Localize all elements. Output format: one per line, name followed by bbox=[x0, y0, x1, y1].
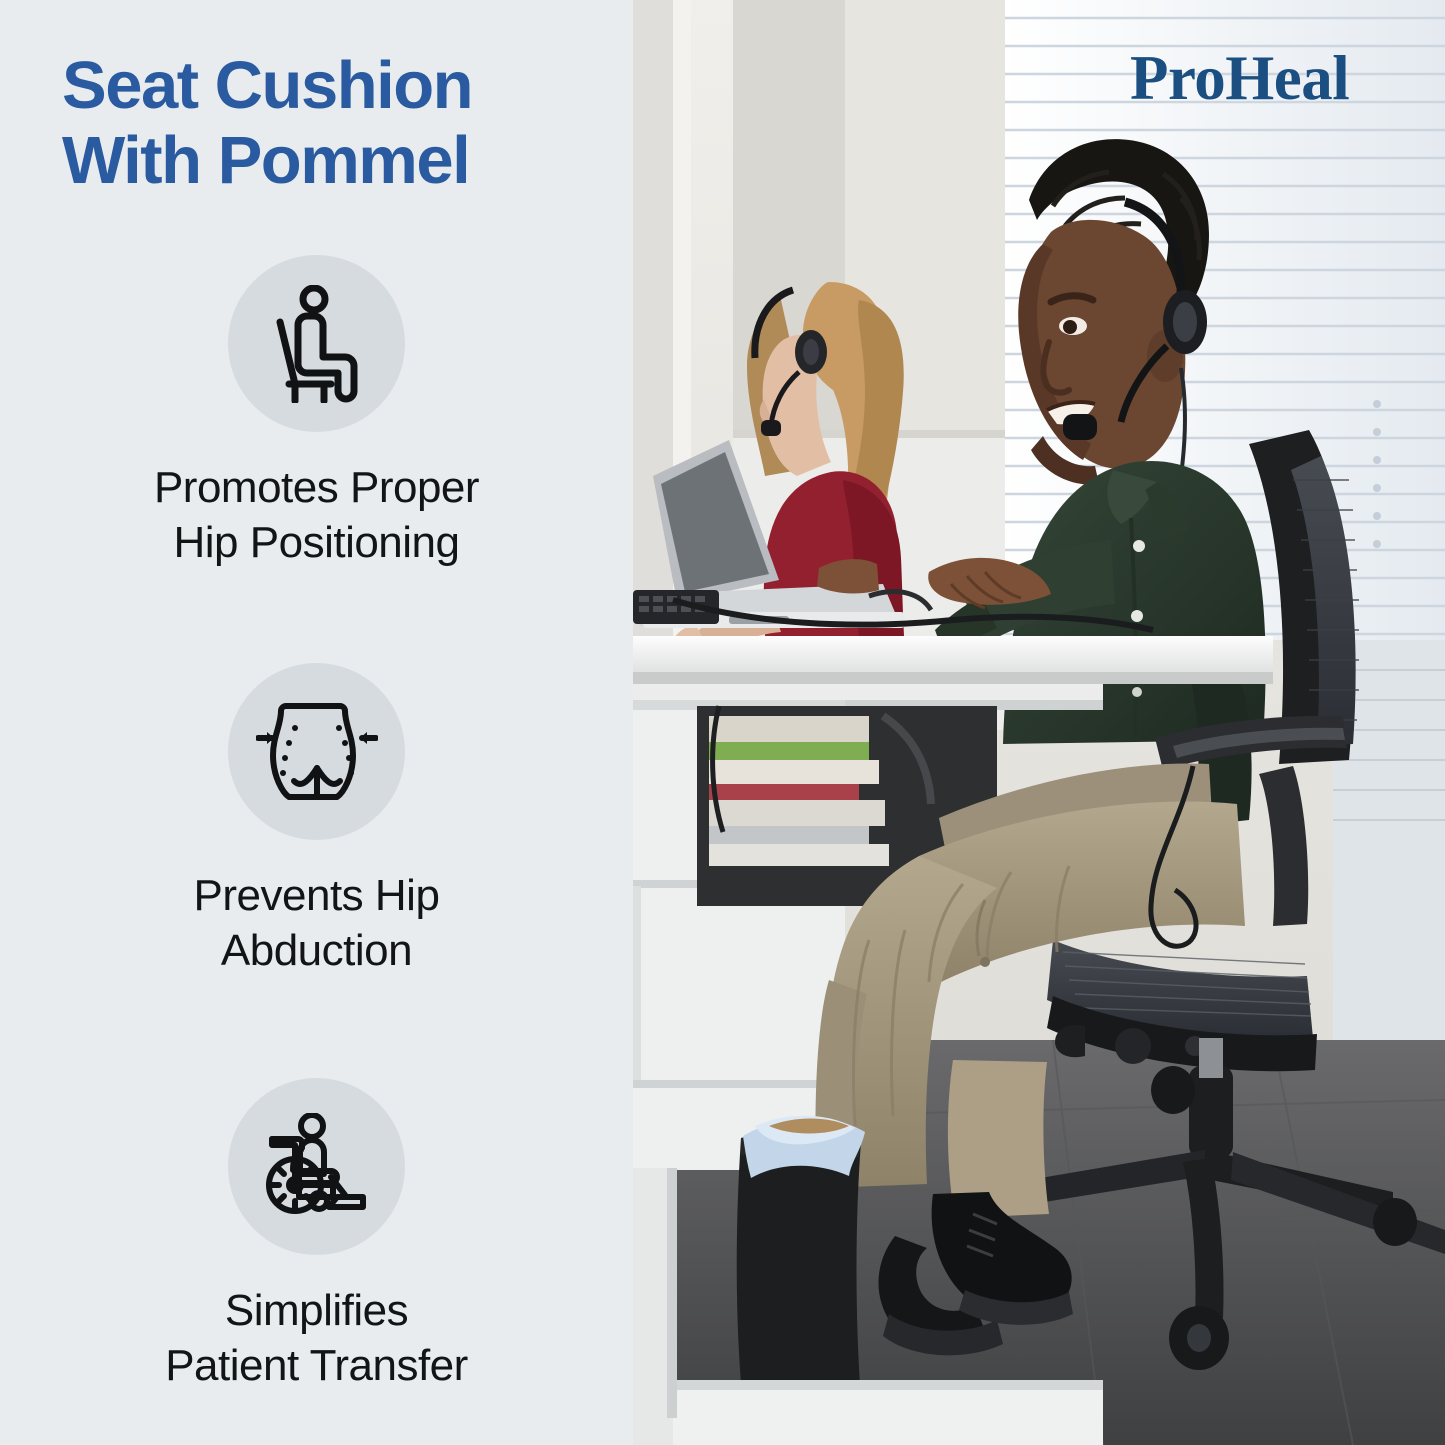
page-title-line-2: With Pommel bbox=[62, 123, 602, 198]
feature-1-line-2: Hip Positioning bbox=[57, 515, 577, 570]
feature-2-line-2: Abduction bbox=[57, 923, 577, 978]
product-infographic: Seat Cushion With Pommel Promotes Proper… bbox=[0, 0, 1445, 1445]
feature-3-line-2: Patient Transfer bbox=[57, 1338, 577, 1393]
feature-label-hip-positioning: Promotes Proper Hip Positioning bbox=[57, 460, 577, 571]
page-title-line-1: Seat Cushion bbox=[62, 48, 602, 123]
brand-logo: ProHeal bbox=[1130, 47, 1349, 110]
feature-item-patient-transfer: Simplifies Patient Transfer bbox=[0, 1078, 633, 1394]
feature-1-line-1: Promotes Proper bbox=[57, 460, 577, 515]
hip-abduction-icon bbox=[228, 663, 405, 840]
seated-person-icon bbox=[228, 255, 405, 432]
feature-label-hip-abduction: Prevents Hip Abduction bbox=[57, 868, 577, 979]
feature-item-hip-positioning: Promotes Proper Hip Positioning bbox=[0, 255, 633, 571]
page-title: Seat Cushion With Pommel bbox=[62, 48, 602, 198]
feature-2-line-1: Prevents Hip bbox=[57, 868, 577, 923]
feature-item-hip-abduction: Prevents Hip Abduction bbox=[0, 663, 633, 979]
office-scene-illustration bbox=[633, 0, 1445, 1445]
product-lifestyle-photo: ProHeal bbox=[633, 0, 1445, 1445]
feature-label-patient-transfer: Simplifies Patient Transfer bbox=[57, 1283, 577, 1394]
feature-3-line-1: Simplifies bbox=[57, 1283, 577, 1338]
wheelchair-transfer-icon bbox=[228, 1078, 405, 1255]
left-info-panel: Seat Cushion With Pommel Promotes Proper… bbox=[0, 0, 633, 1445]
